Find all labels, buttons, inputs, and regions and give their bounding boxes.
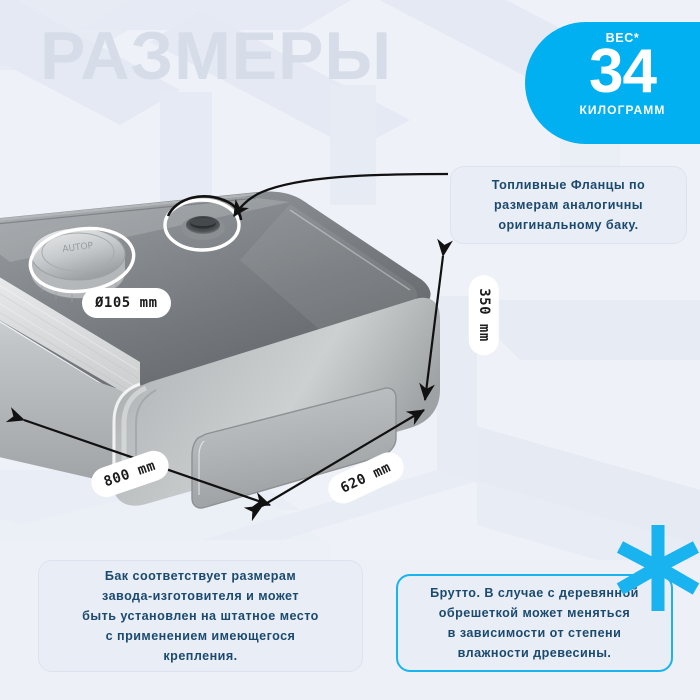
fuel-flange-port: [181, 216, 225, 240]
dimension-label-diameter: Ø105 mm: [82, 288, 171, 318]
callout-line: Топливные Фланцы по: [492, 175, 645, 195]
callout-line: Брутто. В случае с деревянной: [430, 583, 639, 603]
weight-badge: ВЕС* 34 КИЛОГРАММ: [525, 22, 700, 144]
asterisk-icon: [612, 521, 700, 613]
tank-svg: AUTOP: [0, 150, 490, 530]
callout-line: Бак соответствует размерам: [82, 566, 319, 586]
weight-badge-unit: КИЛОГРАММ: [525, 103, 700, 117]
page-title: РАЗМЕРЫ: [40, 22, 392, 90]
callout-oem-fitment: Бак соответствует размерам завода-изгото…: [38, 560, 363, 672]
callout-line: крепления.: [82, 646, 319, 666]
weight-badge-value: 34: [525, 43, 700, 101]
fuel-tank-illustration: AUTOP: [0, 150, 490, 530]
callout-line: оригинальному баку.: [492, 215, 645, 235]
callout-line: обрешеткой может меняться: [430, 603, 639, 623]
infographic-page: РАЗМЕРЫ ВЕС* 34 КИЛОГРАММ: [0, 0, 700, 700]
callout-line: завода-изготовителя и может: [82, 586, 319, 606]
dimension-label-height: 350 mm: [469, 275, 499, 355]
callout-line: влажности древесины.: [430, 643, 639, 663]
callout-fuel-flanges: Топливные Фланцы по размерам аналогичны …: [450, 166, 687, 244]
callout-line: быть установлен на штатное место: [82, 606, 319, 626]
callout-line: с применением имеющегося: [82, 626, 319, 646]
callout-line: в зависимости от степени: [430, 623, 639, 643]
callout-line: размерам аналогичны: [492, 195, 645, 215]
